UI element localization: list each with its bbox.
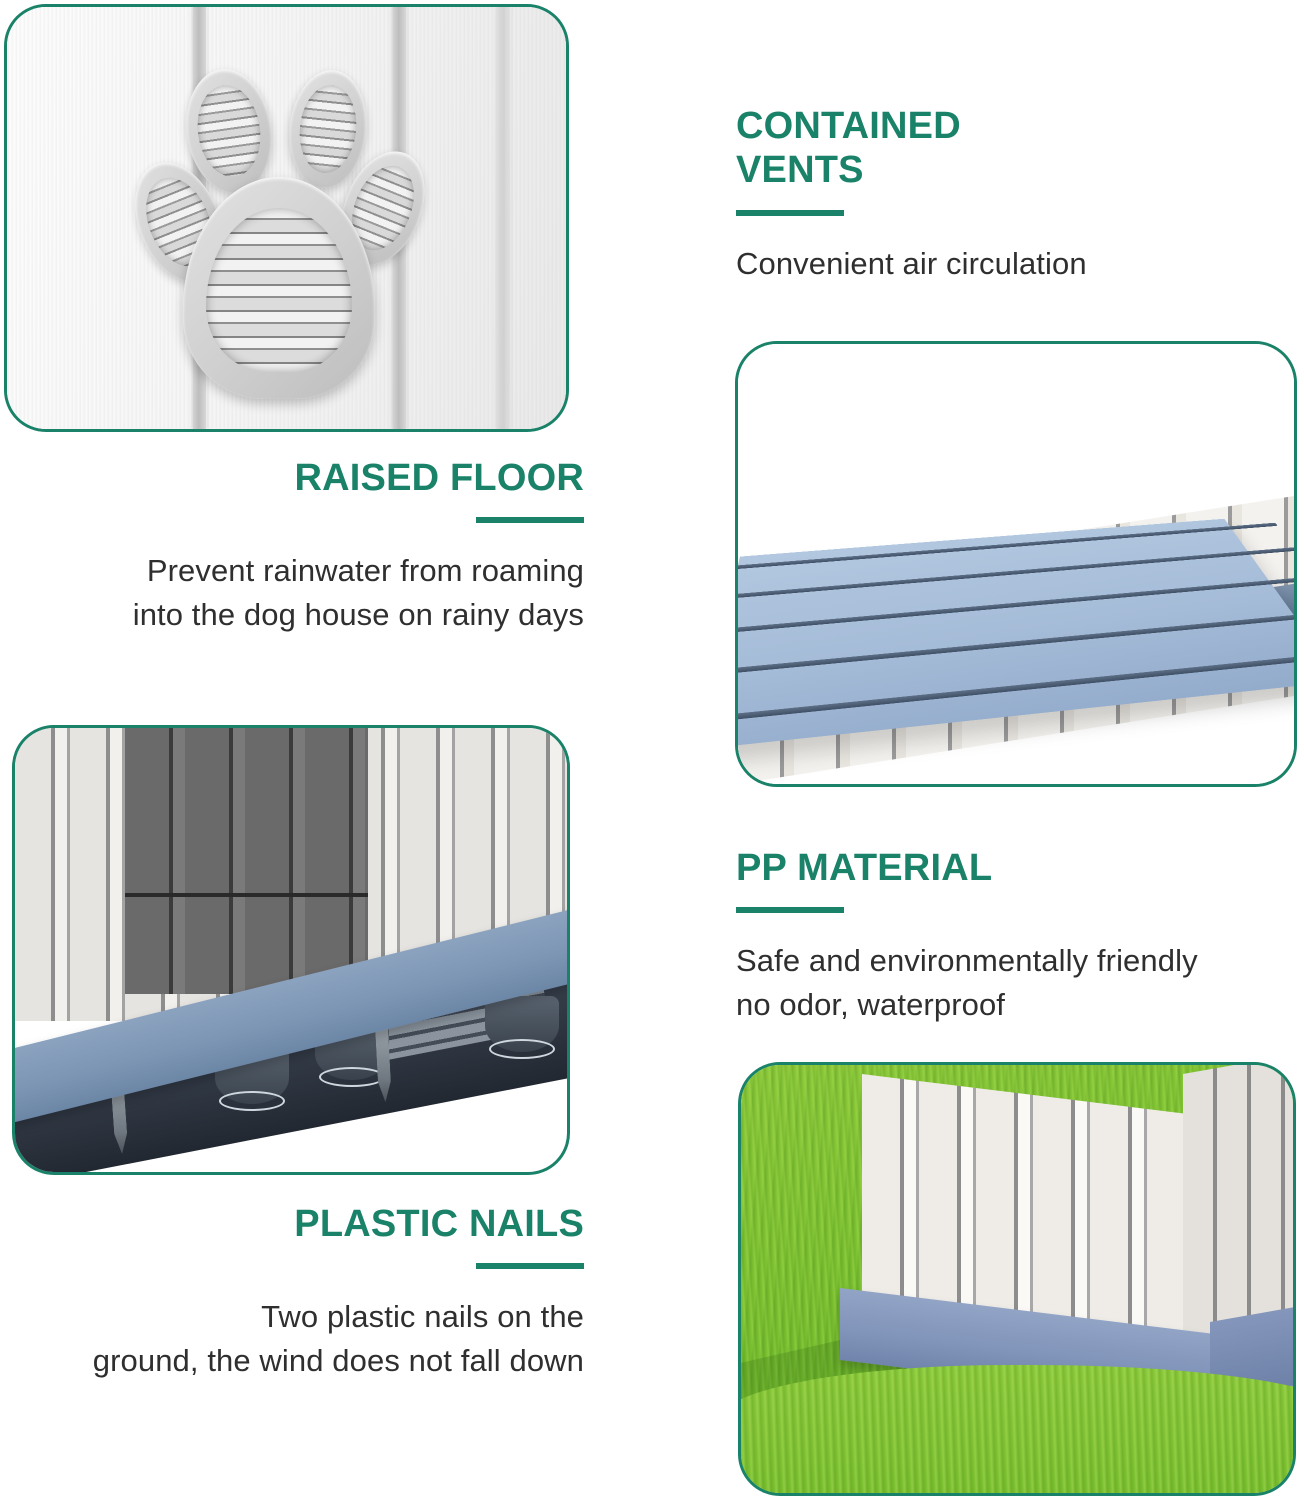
paw-vent-scene [7, 7, 566, 429]
dark-door-panel [125, 728, 368, 994]
feature-block-pp-material: PP MATERIAL Safe and environmentally fri… [736, 846, 1284, 1027]
feature-title-pp-material: PP MATERIAL [736, 846, 1284, 890]
feature-block-raised-floor: RAISED FLOOR Prevent rainwater from roam… [24, 456, 584, 637]
feature-description-plastic-nails: Two plastic nails on the ground, the win… [24, 1295, 584, 1383]
plastic-nails-scene [15, 728, 567, 1172]
title-underline-rule [476, 1263, 584, 1269]
title-underline-rule [736, 210, 844, 216]
grass-base-scene [741, 1065, 1293, 1493]
feature-title-contained-vents: CONTAINED VENTS [736, 104, 1276, 193]
roof-plank-seam [738, 576, 1294, 639]
house-siding-wall-side [1183, 1065, 1293, 1339]
roof-plank-seam [738, 547, 1294, 603]
blue-roof-scene [738, 344, 1294, 784]
feature-title-raised-floor: RAISED FLOOR [24, 456, 584, 500]
feature-description-raised-floor: Prevent rainwater from roaming into the … [24, 549, 584, 637]
feature-description-pp-material: Safe and environmentally friendly no odo… [736, 939, 1284, 1027]
blue-roof-photo [735, 341, 1297, 787]
infographic-page: CONTAINED VENTS Convenient air circulati… [0, 0, 1304, 1500]
door-panel-seam [125, 893, 368, 897]
title-underline-rule [736, 907, 844, 913]
title-underline-rule [476, 517, 584, 523]
feature-block-contained-vents: CONTAINED VENTS Convenient air circulati… [736, 104, 1276, 286]
plastic-nails-underside-photo [12, 725, 570, 1175]
feature-description-contained-vents: Convenient air circulation [736, 242, 1276, 286]
paw-vent-icon [135, 25, 435, 425]
paw-shaped-vent-photo [4, 4, 569, 432]
feature-block-plastic-nails: PLASTIC NAILS Two plastic nails on the g… [24, 1202, 584, 1383]
feature-title-plastic-nails: PLASTIC NAILS [24, 1202, 584, 1246]
siding-seam [497, 7, 510, 429]
foreground-grass [741, 1365, 1293, 1493]
grass-base-photo [738, 1062, 1296, 1496]
nail-socket [485, 996, 559, 1052]
